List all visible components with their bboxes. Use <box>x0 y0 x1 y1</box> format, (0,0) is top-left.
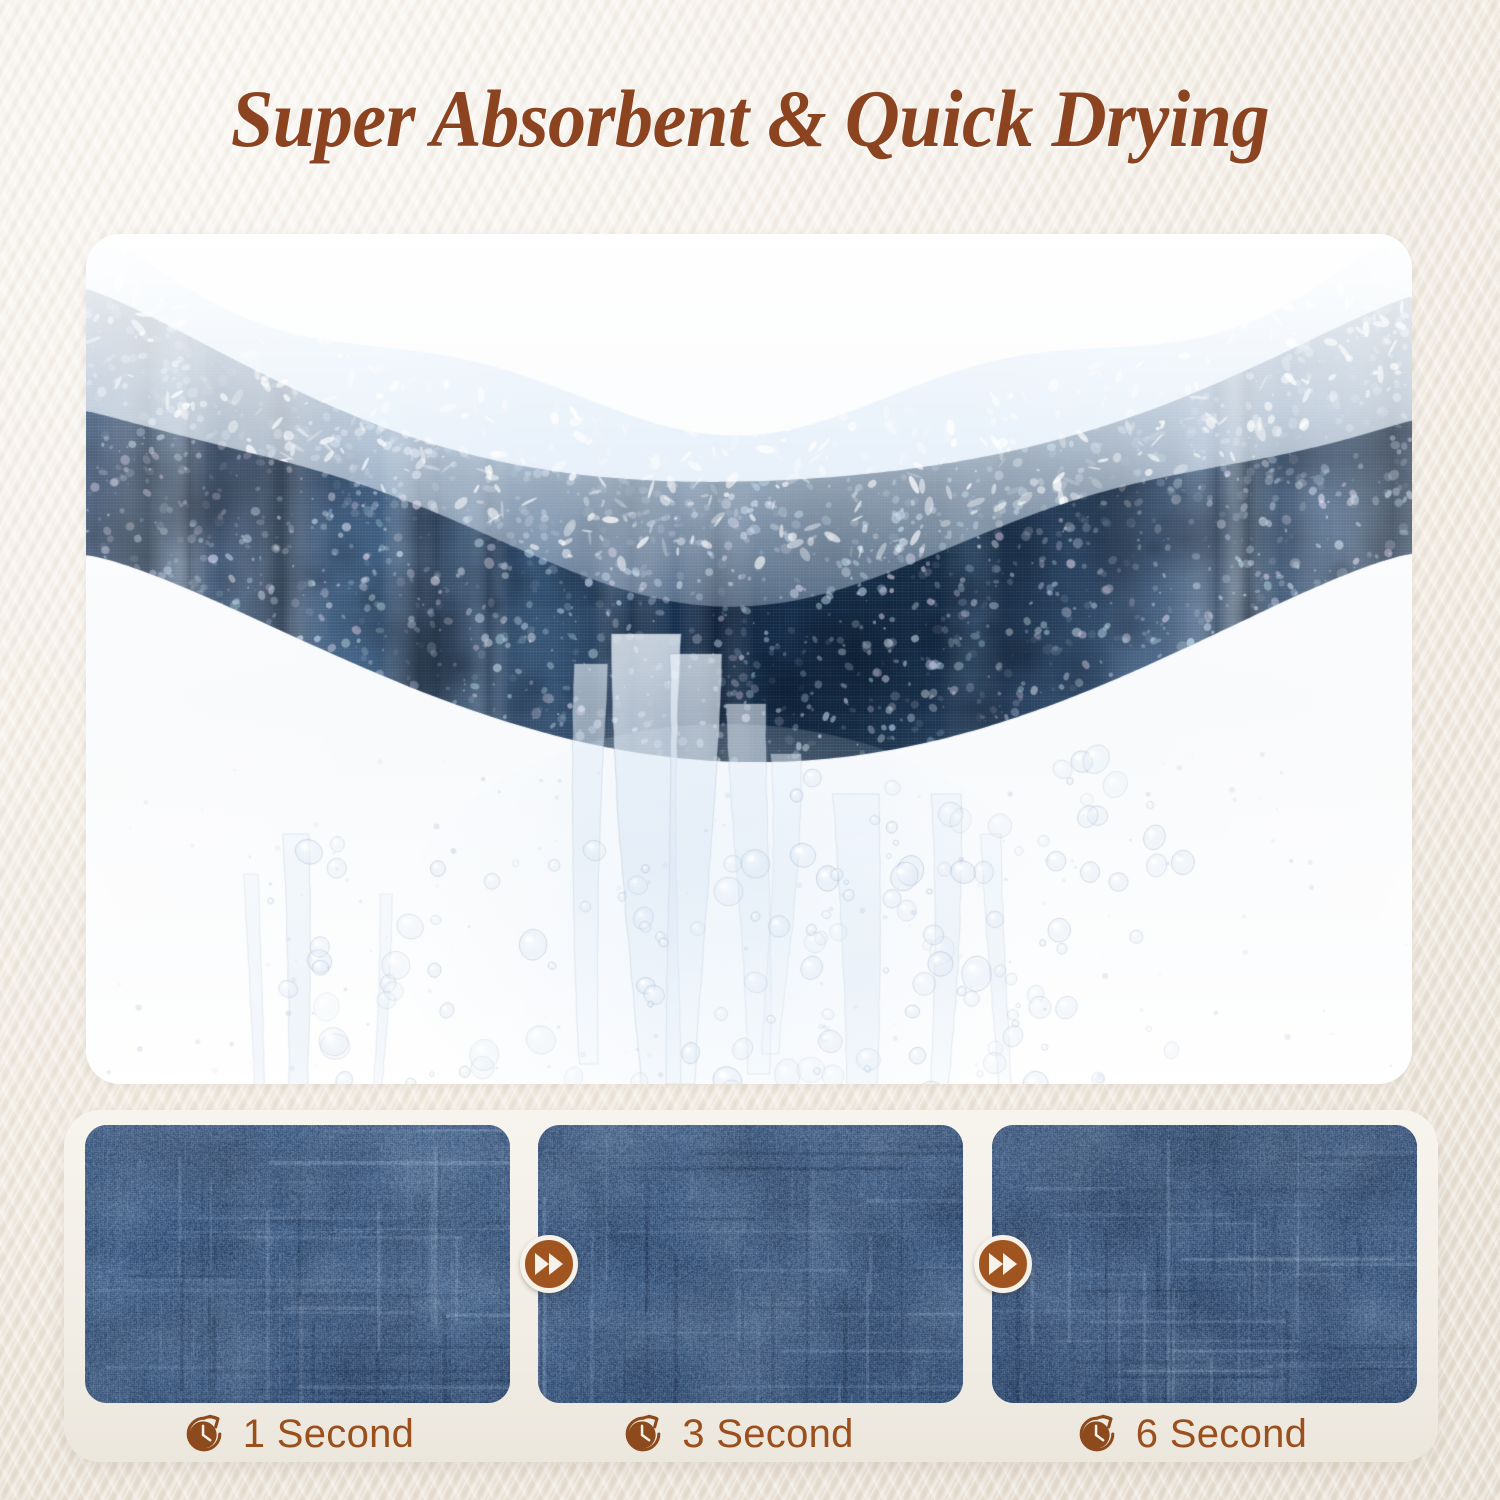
fabric-swatch-3-second <box>538 1125 963 1403</box>
timing-label-6-second: 6 Second <box>964 1410 1417 1458</box>
timing-label-text: 6 Second <box>1136 1412 1307 1457</box>
absorbency-demo-card: 1 Second 3 Second <box>64 1110 1438 1462</box>
fabric-texture <box>85 1125 510 1403</box>
fabric-swatch-row <box>85 1125 1417 1403</box>
timing-label-text: 1 Second <box>243 1412 414 1457</box>
page-title: Super Absorbent & Quick Drying <box>53 72 1448 166</box>
clock-icon <box>620 1411 666 1457</box>
fabric-texture <box>992 1125 1417 1403</box>
fast-forward-icon-1 <box>520 1235 578 1293</box>
timing-label-row: 1 Second 3 Second <box>85 1410 1417 1458</box>
fabric-texture <box>538 1125 963 1403</box>
hero-photo <box>86 234 1412 1084</box>
fabric-swatch-1-second <box>85 1125 510 1403</box>
fabric-swatch-6-second <box>992 1125 1417 1403</box>
timing-label-text: 3 Second <box>682 1412 853 1457</box>
infographic-canvas: Super Absorbent & Quick Drying <box>0 0 1500 1500</box>
timing-label-3-second: 3 Second <box>510 1410 964 1458</box>
timing-label-1-second: 1 Second <box>85 1410 510 1458</box>
clock-icon <box>181 1411 227 1457</box>
clock-icon <box>1074 1411 1120 1457</box>
water-splash-photo <box>86 234 1412 1084</box>
fast-forward-icon-2 <box>974 1235 1032 1293</box>
